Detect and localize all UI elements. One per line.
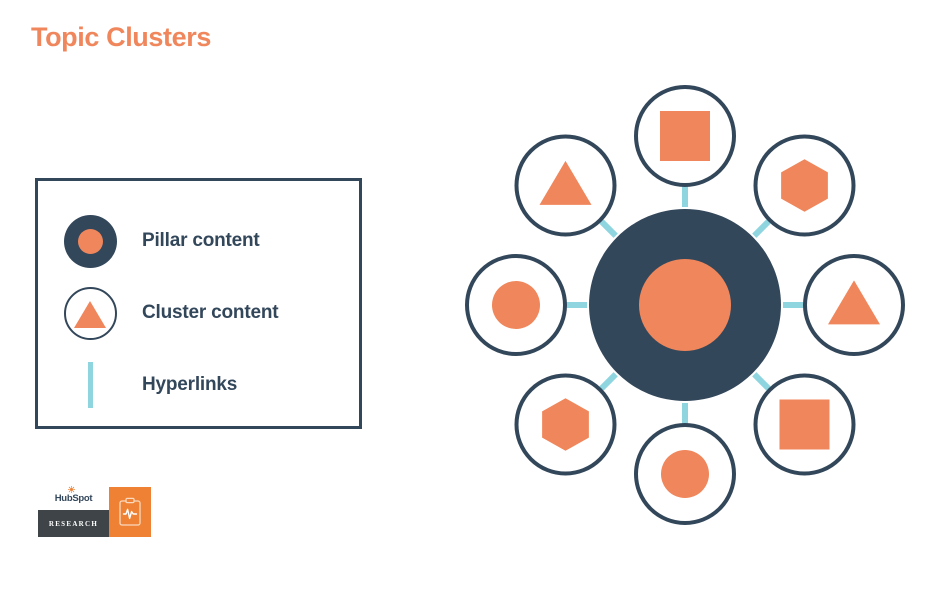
logo-research-text: RESEARCH [49, 520, 98, 528]
page-title: Topic Clusters [31, 22, 211, 53]
hyperlink-connector [601, 374, 616, 389]
legend-box: Pillar content Cluster content Hyperlink… [35, 178, 362, 429]
cluster-node [467, 256, 565, 354]
cluster-shape-circle-icon [492, 281, 540, 329]
cluster-node [516, 376, 614, 474]
cluster-node [516, 136, 614, 234]
cluster-marker-icon [64, 287, 117, 340]
logo-research-block: RESEARCH [38, 510, 109, 537]
legend-item-pillar-content: Pillar content [38, 205, 359, 277]
hyperlink-connector [754, 374, 769, 389]
cluster-shape-square-icon [780, 400, 830, 450]
hyperlink-marker-icon [88, 362, 93, 408]
topic-cluster-svg [449, 69, 921, 541]
cluster-node [756, 136, 854, 234]
cluster-node [805, 256, 903, 354]
logo-wordmark-text: HubSpot [55, 493, 92, 504]
legend-label-pillar-content: Pillar content [142, 230, 260, 252]
legend-item-cluster-content: Cluster content [38, 277, 359, 349]
clipboard-pulse-icon [118, 497, 142, 527]
legend-marker-cluster [38, 277, 142, 349]
pillar-marker-icon [64, 215, 117, 268]
cluster-shape-circle-icon [661, 450, 709, 498]
cluster-node [636, 87, 734, 185]
legend-marker-hyperlink [38, 349, 142, 421]
hyperlink-connector [754, 221, 769, 236]
pillar-hub-node [589, 209, 781, 401]
legend-label-cluster-content: Cluster content [142, 302, 278, 324]
legend-item-hyperlinks: Hyperlinks [38, 349, 359, 421]
legend-label-hyperlinks: Hyperlinks [142, 374, 237, 396]
logo-badge-block [109, 487, 151, 537]
legend-marker-pillar [38, 205, 142, 277]
hyperlink-connector [601, 221, 616, 236]
cluster-node [636, 425, 734, 523]
logo-wordmark-block: HubSpot [38, 487, 109, 510]
hubspot-sprocket-icon [68, 486, 75, 493]
cluster-shape-square-icon [660, 111, 710, 161]
cluster-node [756, 376, 854, 474]
topic-cluster-diagram [449, 69, 921, 541]
logo-left-block: HubSpot RESEARCH [38, 487, 109, 537]
hubspot-research-logo: HubSpot RESEARCH [38, 487, 151, 537]
pillar-hub-inner-circle [639, 259, 731, 351]
